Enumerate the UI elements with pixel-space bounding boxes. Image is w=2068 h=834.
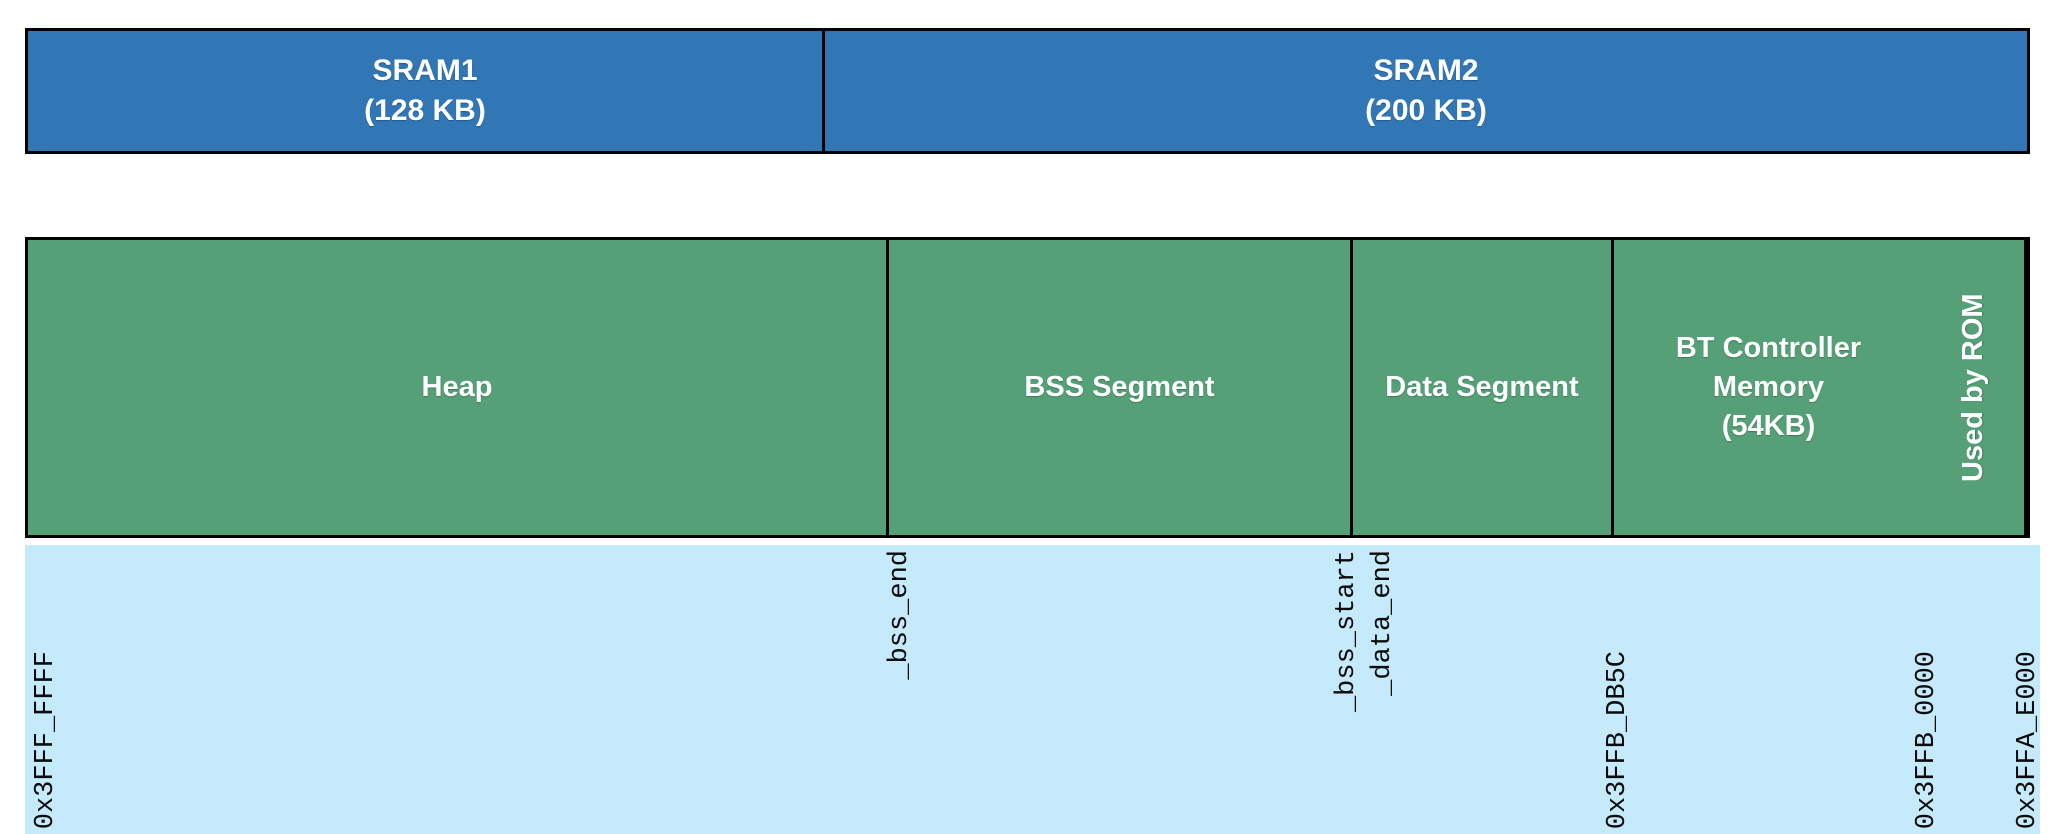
segment-block-heap: Heap xyxy=(28,240,886,535)
address-label-0x3FFB_0000: 0x3FFB_0000 xyxy=(1912,651,1942,829)
segment-block-bt-controller-memory: BT Controller Memory (54KB) xyxy=(1611,240,1923,535)
segment-block-data: Data Segment xyxy=(1350,240,1611,535)
memory-layout-diagram: SRAM1 (128 KB) SRAM2 (200 KB) Heap BSS S… xyxy=(0,0,2068,834)
sram-block-sram1: SRAM1 (128 KB) xyxy=(28,31,822,151)
address-label-0x3FFB_DB5C: 0x3FFB_DB5C xyxy=(1603,651,1633,829)
sram1-title: SRAM1 xyxy=(372,51,477,91)
sram2-title: SRAM2 xyxy=(1373,51,1478,91)
bss-segment-label: BSS Segment xyxy=(1024,368,1214,407)
sram2-size: (200 KB) xyxy=(1365,91,1487,131)
address-tick-bss-end: _bss_end xyxy=(885,545,915,834)
address-tick-bss-start-data-end: _bss_start _data_end xyxy=(1332,545,1398,834)
bt-controller-line-2: Memory xyxy=(1713,368,1824,407)
heap-label: Heap xyxy=(422,368,493,407)
address-label-0x3FFF_FFFF: 0x3FFF_FFFF xyxy=(31,651,61,829)
address-label-bss-end: _bss_end xyxy=(885,550,915,680)
address-tick-0x3FFB_DB5C: 0x3FFB_DB5C xyxy=(1603,545,1633,834)
address-ruler-band: 0x3FFF_FFFF _bss_end _bss_start _data_en… xyxy=(25,545,2040,834)
segment-block-used-by-rom: Used by ROM xyxy=(1923,240,2027,535)
bt-controller-line-1: BT Controller xyxy=(1676,329,1861,368)
address-label-data-end: _data_end xyxy=(1368,550,1398,696)
bt-controller-line-3: (54KB) xyxy=(1722,407,1815,446)
address-tick-0x3FFA_E000: 0x3FFA_E000 xyxy=(2013,545,2043,834)
address-tick-0x3FFB_0000: 0x3FFB_0000 xyxy=(1912,545,1942,834)
memory-segment-row: Heap BSS Segment Data Segment BT Control… xyxy=(25,237,2030,538)
data-segment-label: Data Segment xyxy=(1385,368,1578,407)
used-by-rom-label: Used by ROM xyxy=(1954,293,1993,482)
sram1-size: (128 KB) xyxy=(364,91,486,131)
sram-block-sram2: SRAM2 (200 KB) xyxy=(822,31,2027,151)
segment-block-bss: BSS Segment xyxy=(886,240,1350,535)
address-tick-0x3FFF_FFFF: 0x3FFF_FFFF xyxy=(31,545,61,834)
sram-bank-row: SRAM1 (128 KB) SRAM2 (200 KB) xyxy=(25,28,2030,154)
address-label-bss-start: _bss_start xyxy=(1332,550,1362,712)
address-label-0x3FFA_E000: 0x3FFA_E000 xyxy=(2013,651,2043,829)
